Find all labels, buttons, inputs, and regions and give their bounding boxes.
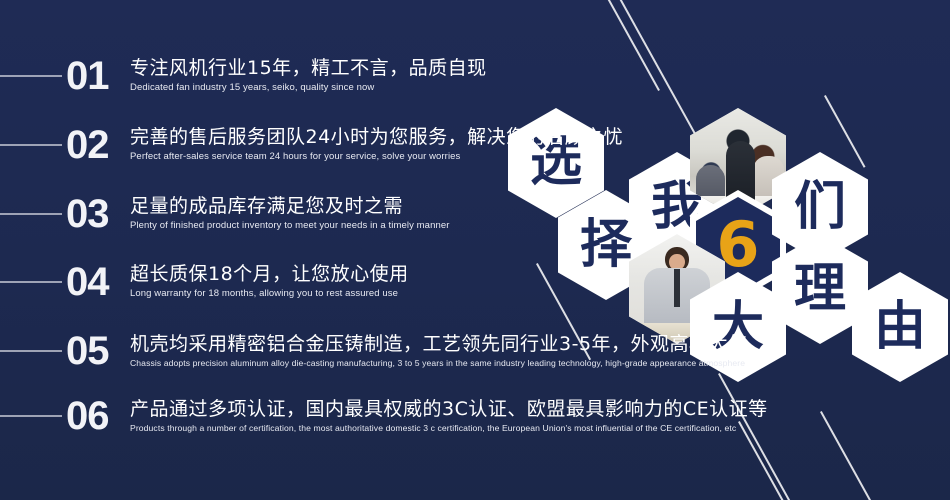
reason-row-05: 05 机壳均采用精密铝合金压铸制造，工艺领先同行业3-5年，外观高档大气 Cha…	[0, 323, 748, 379]
reason-row-06: 06 产品通过多项认证，国内最具权威的3C认证、欧盟最具影响力的CE认证等 Pr…	[0, 388, 768, 444]
hexagon-glyph: 们	[794, 181, 846, 233]
row-dash	[0, 350, 62, 352]
reason-en-text: Products through a number of certificati…	[130, 423, 768, 433]
reason-row-04: 04 超长质保18个月，让您放心使用 Long warranty for 18 …	[0, 254, 409, 310]
reason-number: 04	[66, 262, 128, 302]
reason-number: 01	[66, 56, 128, 96]
reason-texts: 完善的售后服务团队24小时为您服务，解决您的后顾之忧 Perfect after…	[130, 127, 623, 162]
reason-cn-text: 机壳均采用精密铝合金压铸制造，工艺领先同行业3-5年，外观高档大气	[130, 334, 748, 356]
reason-texts: 足量的成品库存满足您及时之需 Plenty of finished produc…	[130, 196, 449, 231]
reason-row-03: 03 足量的成品库存满足您及时之需 Plenty of finished pro…	[0, 186, 449, 242]
row-dash	[0, 415, 62, 417]
row-dash	[0, 281, 62, 283]
hexagon-glyph: 理	[794, 263, 846, 315]
reason-number: 02	[66, 125, 128, 165]
reason-texts: 超长质保18个月，让您放心使用 Long warranty for 18 mon…	[130, 264, 409, 299]
hexagon-glyph: 由	[874, 301, 926, 353]
reason-cn-text: 专注风机行业15年，精工不言，品质自现	[130, 58, 487, 80]
reason-number: 06	[66, 396, 128, 436]
row-dash	[0, 213, 62, 215]
reason-number: 03	[66, 194, 128, 234]
reason-en-text: Plenty of finished product inventory to …	[130, 220, 449, 231]
reasons-list: 01 专注风机行业15年，精工不言，品质自现 Dedicated fan ind…	[0, 0, 720, 500]
reason-cn-text: 完善的售后服务团队24小时为您服务，解决您的后顾之忧	[130, 127, 623, 149]
reason-cn-text: 足量的成品库存满足您及时之需	[130, 196, 449, 218]
reason-texts: 产品通过多项认证，国内最具权威的3C认证、欧盟最具影响力的CE认证等 Produ…	[130, 399, 768, 433]
reason-en-text: Dedicated fan industry 15 years, seiko, …	[130, 82, 487, 93]
reason-number: 05	[66, 331, 128, 371]
reason-row-02: 02 完善的售后服务团队24小时为您服务，解决您的后顾之忧 Perfect af…	[0, 117, 623, 173]
reason-en-text: Long warranty for 18 months, allowing yo…	[130, 288, 409, 299]
reason-texts: 专注风机行业15年，精工不言，品质自现 Dedicated fan indust…	[130, 58, 487, 93]
reason-en-text: Chassis adopts precision aluminum alloy …	[130, 358, 748, 368]
reason-cn-text: 超长质保18个月，让您放心使用	[130, 264, 409, 286]
reason-row-01: 01 专注风机行业15年，精工不言，品质自现 Dedicated fan ind…	[0, 48, 487, 104]
reason-en-text: Perfect after-sales service team 24 hour…	[130, 151, 623, 162]
row-dash	[0, 75, 62, 77]
banner-stage: 选 择 我 6 们	[0, 0, 950, 500]
reason-texts: 机壳均采用精密铝合金压铸制造，工艺领先同行业3-5年，外观高档大气 Chassi…	[130, 334, 748, 368]
reason-cn-text: 产品通过多项认证，国内最具权威的3C认证、欧盟最具影响力的CE认证等	[130, 399, 768, 421]
row-dash	[0, 144, 62, 146]
